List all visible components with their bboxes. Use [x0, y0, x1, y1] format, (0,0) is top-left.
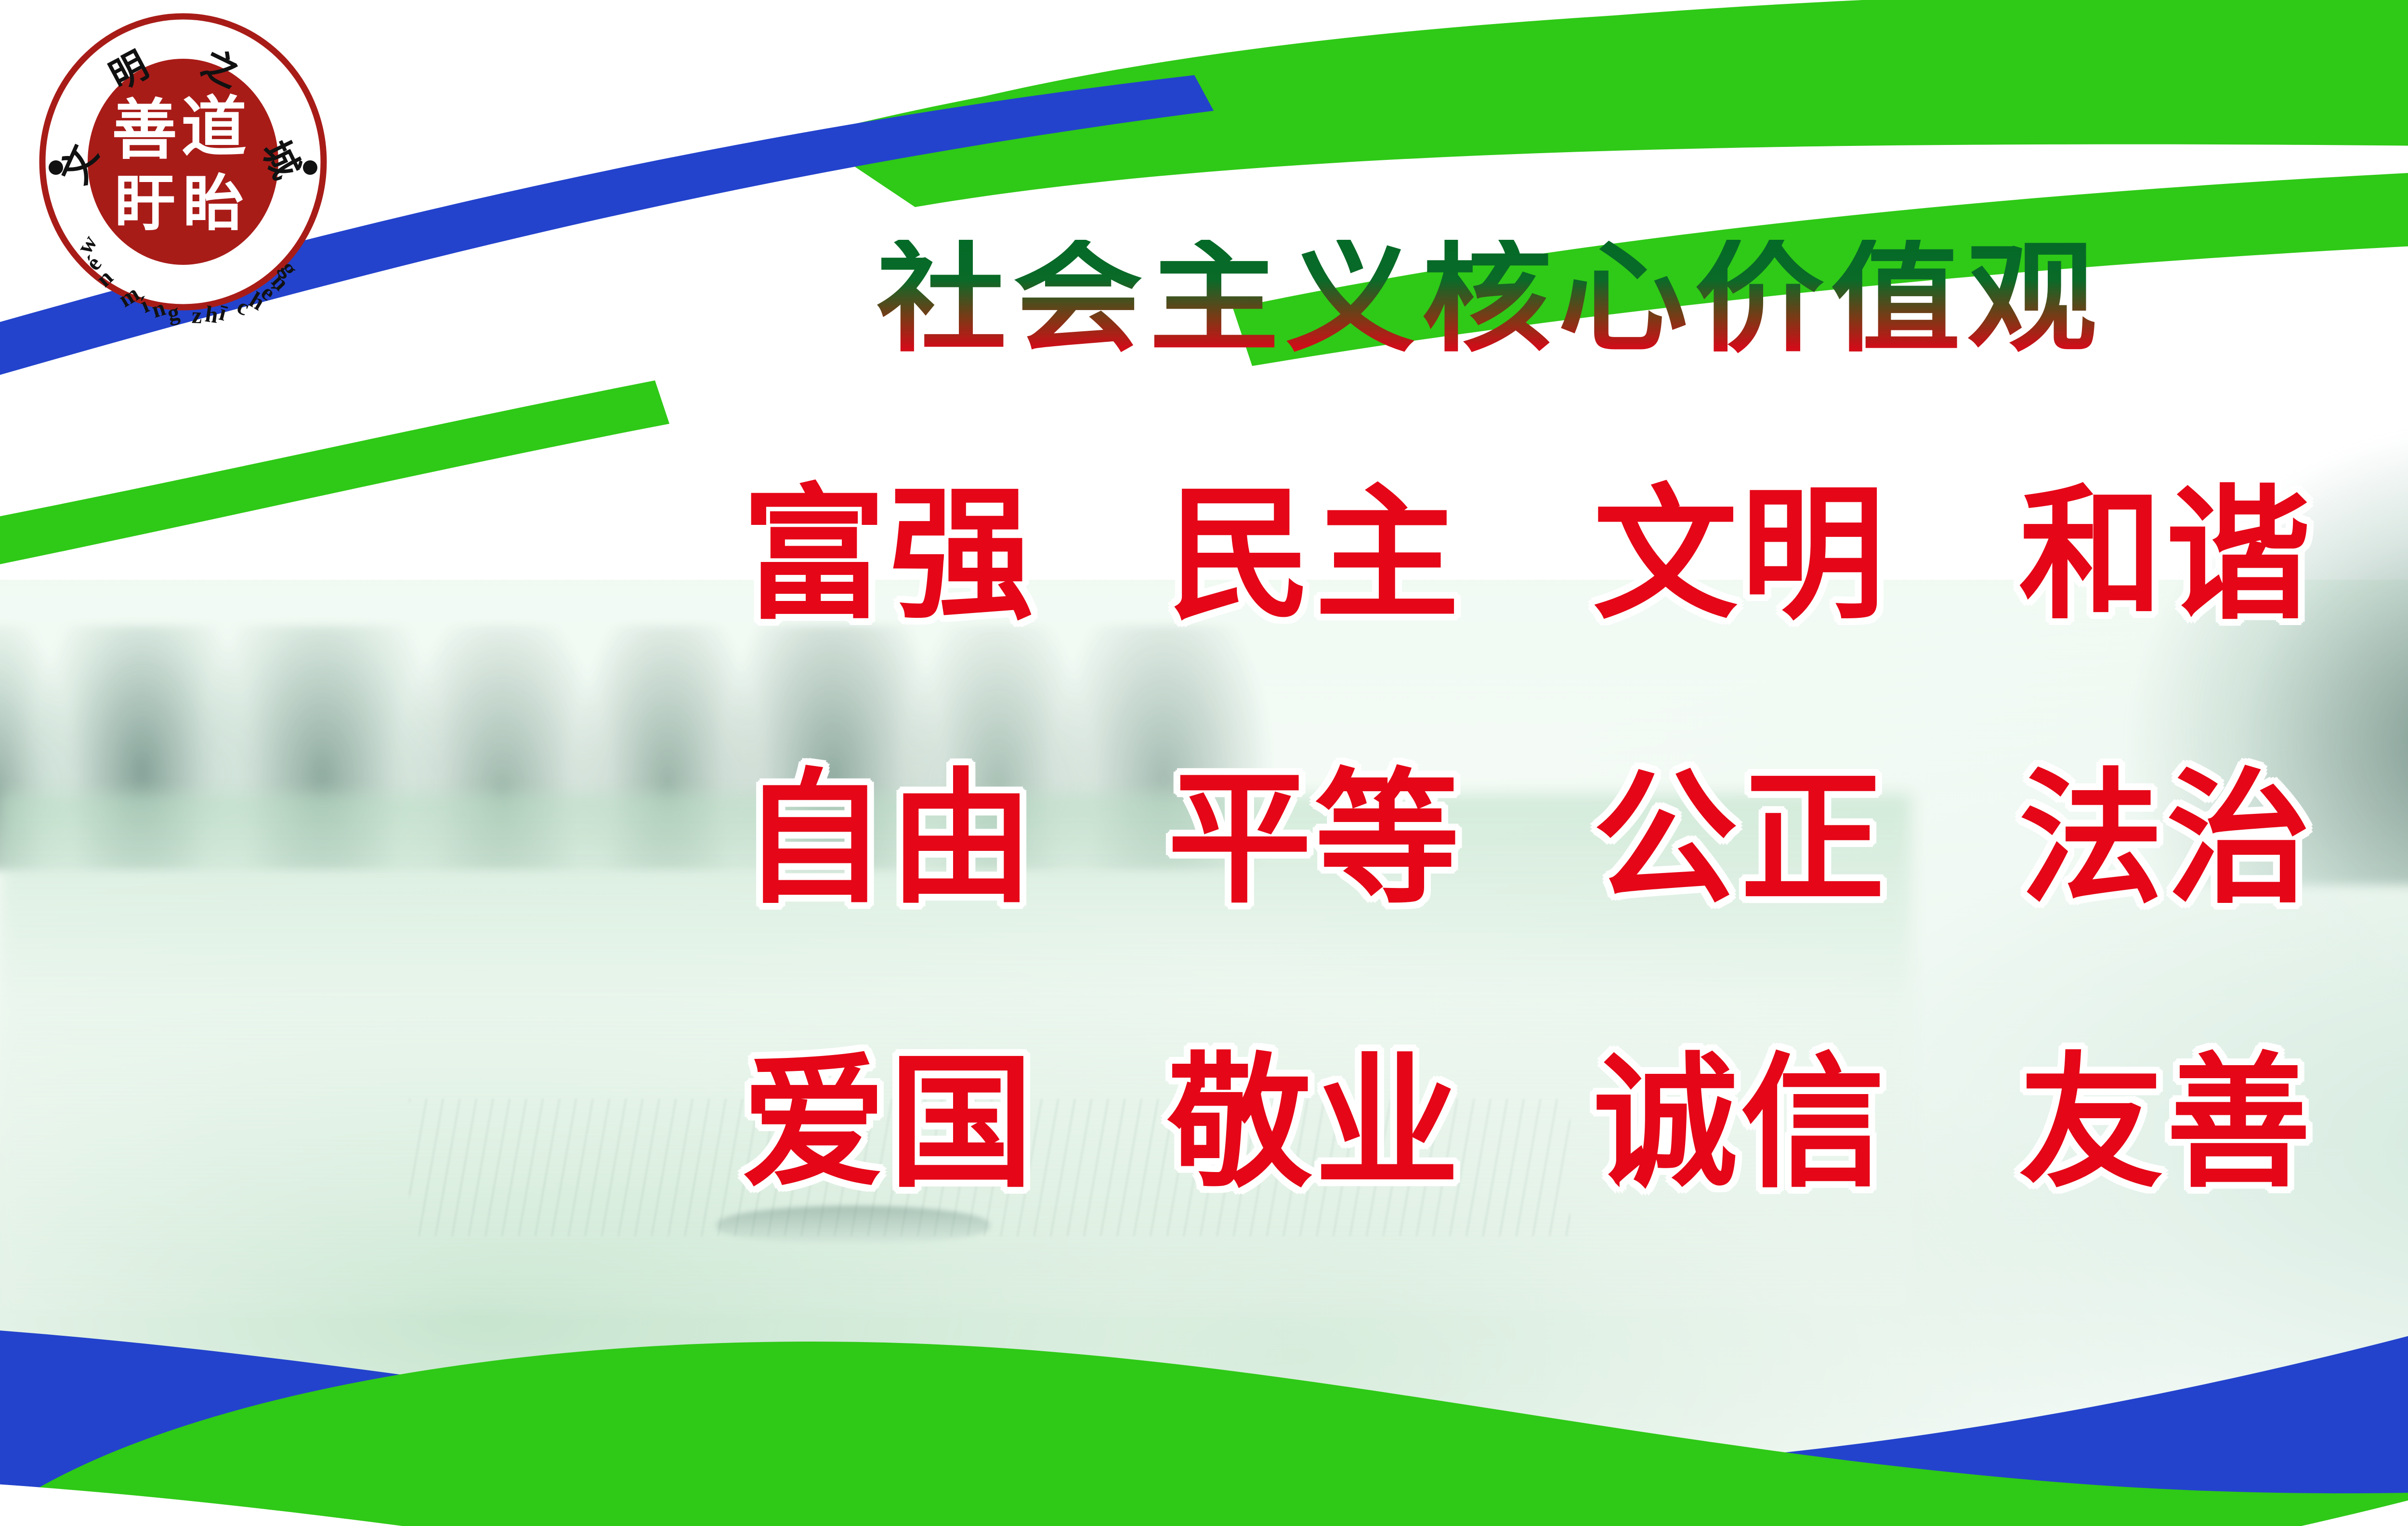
- poster-canvas: 文 明 之 城 善 道 盱 眙 w é n m í n g z h ī c h …: [0, 0, 2408, 1526]
- core-values-block: 富强 民主 文明 和谐 自由 平等 公正 法治 爱国 敬业 诚信 友善: [742, 484, 2408, 1197]
- value-word-chengxin: 诚信: [1593, 1052, 1888, 1197]
- emblem-logo: 文 明 之 城 善 道 盱 眙 w é n m í n g z h ī c h …: [39, 13, 327, 311]
- value-word-ziyou: 自由: [742, 768, 1036, 913]
- emblem-core-char-yi: 眙: [183, 174, 244, 235]
- value-word-aiguo: 爱国: [742, 1052, 1036, 1197]
- value-word-fuqiang: 富强: [742, 484, 1036, 628]
- value-row-3: 爱国 敬业 诚信 友善: [742, 1052, 2408, 1197]
- value-word-jingye: 敬业: [1167, 1052, 1462, 1197]
- value-word-fazhi: 法治: [2019, 768, 2314, 913]
- value-word-minzhu: 民主: [1167, 484, 1462, 628]
- emblem-core-char-shan: 善: [112, 98, 177, 164]
- value-word-wenming: 文明: [1593, 484, 1888, 628]
- page-title: 社会主义核心价值观: [877, 240, 2408, 365]
- value-row-1: 富强 民主 文明 和谐: [742, 484, 2408, 628]
- value-row-2: 自由 平等 公正 法治: [742, 768, 2408, 913]
- value-word-pingdeng: 平等: [1167, 768, 1462, 913]
- emblem-pinyin-z: z: [191, 304, 202, 328]
- emblem-core-char-xu: 盱: [115, 174, 175, 235]
- value-word-youshan: 友善: [2019, 1052, 2314, 1197]
- ribbon-green-left: [0, 380, 669, 568]
- value-word-gongzheng: 公正: [1593, 768, 1888, 913]
- emblem-core-char-dao: 道: [181, 95, 247, 161]
- value-word-hexie: 和谐: [2019, 484, 2314, 628]
